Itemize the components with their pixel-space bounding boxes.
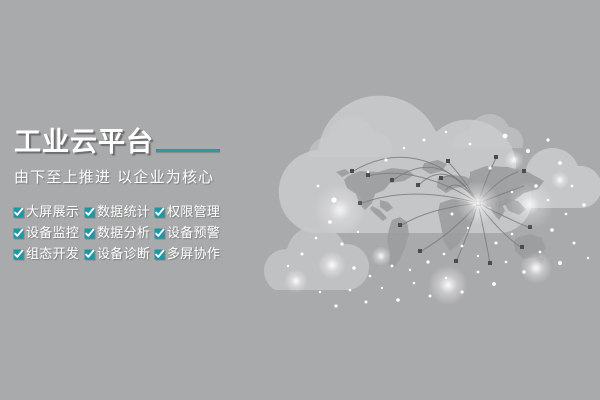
feature-label: 设备预警 [167,226,220,241]
feature-item-4[interactable]: 数据分析 [84,226,154,241]
checkbox-checked-icon [84,207,95,218]
page-subtitle: 由下至上推进 以企业为核心 [14,167,304,187]
headline-block: 工业云平台 由下至上推进 以企业为核心 [14,124,304,187]
feature-label: 大屏展示 [26,205,79,220]
cloud-bottom-left [264,225,369,290]
feature-label: 数据统计 [97,205,150,220]
feature-label: 组态开发 [26,247,79,262]
checkbox-checked-icon [154,249,165,260]
title-row: 工业云平台 [14,124,304,158]
feature-item-8[interactable]: 多屏协作 [154,247,220,262]
feature-item-2[interactable]: 权限管理 [154,205,220,220]
feature-list: 大屏展示 数据统计 权限管理 设备监控 数据分析 [13,202,220,265]
checkbox-checked-icon [13,249,24,260]
feature-label: 设备监控 [26,226,79,241]
cloud-platform-banner: 工业云平台 由下至上推进 以企业为核心 大屏展示 数据统计 权限管理 [0,0,600,400]
checkbox-checked-icon [154,207,165,218]
checkbox-checked-icon [84,228,95,239]
feature-label: 多屏协作 [167,247,220,262]
checkbox-checked-icon [13,207,24,218]
feature-label: 数据分析 [97,226,150,241]
feature-item-5[interactable]: 设备预警 [154,226,220,241]
title-divider-rule [156,149,220,152]
feature-item-3[interactable]: 设备监控 [13,226,84,241]
checkbox-checked-icon [13,228,24,239]
checkbox-checked-icon [154,228,165,239]
page-title: 工业云平台 [14,128,154,158]
illustration-artwork [0,0,600,400]
checkbox-checked-icon [84,249,95,260]
feature-label: 设备诊断 [97,247,150,262]
feature-item-7[interactable]: 设备诊断 [84,247,154,262]
feature-item-0[interactable]: 大屏展示 [13,205,84,220]
feature-label: 权限管理 [167,205,220,220]
feature-item-6[interactable]: 组态开发 [13,247,84,262]
feature-item-1[interactable]: 数据统计 [84,205,154,220]
